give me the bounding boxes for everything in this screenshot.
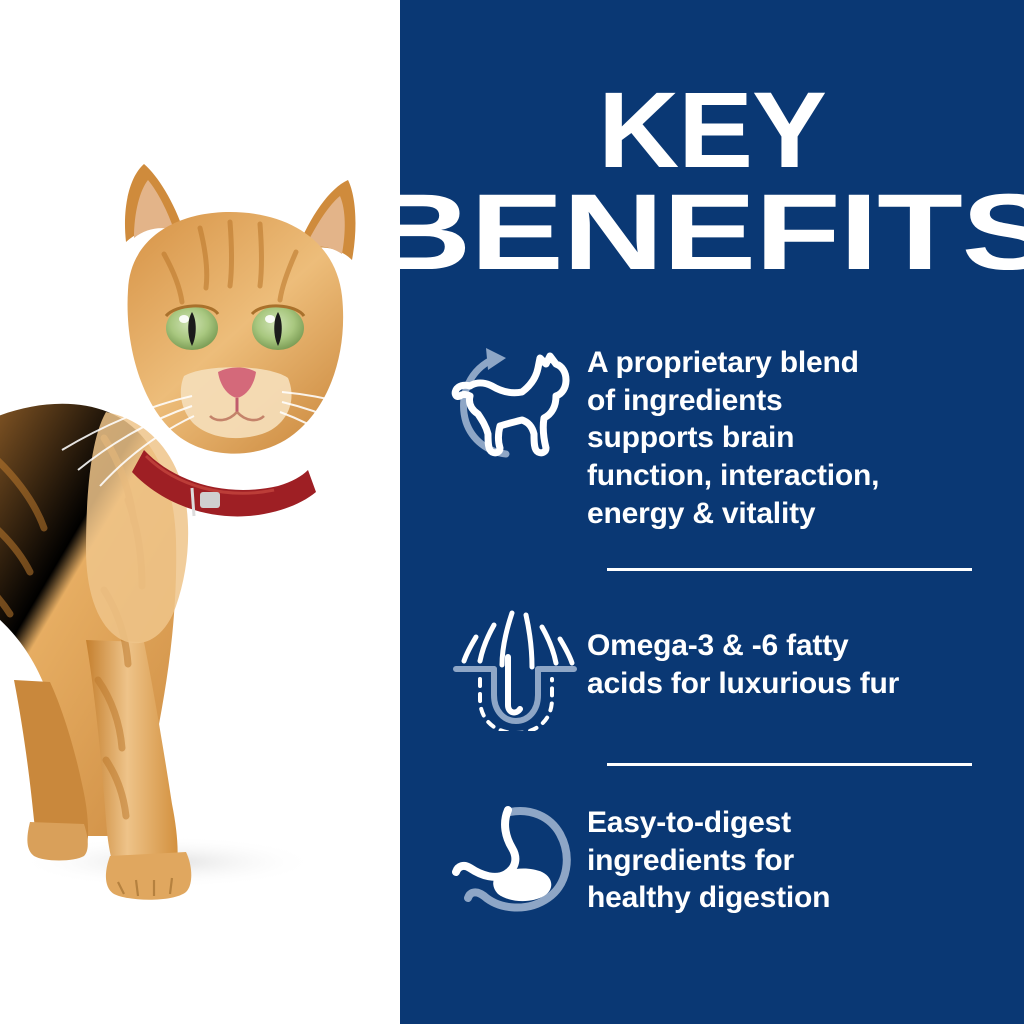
benefits-panel: KEY BENEFITS A proprietary blend of ingr… — [400, 0, 1024, 1024]
benefits-list: A proprietary blend of ingredients suppo… — [400, 338, 1024, 924]
benefit-text-digestion: Easy-to-digest ingredients for healthy d… — [578, 794, 1024, 917]
page-title-line-1: KEY — [388, 80, 1024, 180]
benefit-item-digestion: Easy-to-digest ingredients for healthy d… — [400, 794, 1024, 924]
page-title: KEY BENEFITS — [400, 80, 1024, 283]
hair-follicle-icon — [450, 603, 578, 731]
spacer — [400, 766, 1024, 794]
benefit-text-brain: A proprietary blend of ingredients suppo… — [578, 338, 1024, 532]
spacer — [400, 571, 1024, 601]
spacer — [400, 731, 1024, 763]
benefit-text-coat: Omega-3 & -6 fatty acids for luxurious f… — [578, 601, 1024, 702]
cat-photo-panel — [0, 0, 400, 1024]
stomach-icon — [450, 796, 578, 924]
page-title-line-2: BENEFITS — [306, 182, 1024, 282]
cat-refresh-icon — [450, 338, 578, 466]
key-benefits-panel: KEY BENEFITS A proprietary blend of ingr… — [0, 0, 1024, 1024]
spacer — [400, 532, 1024, 568]
benefit-item-coat: Omega-3 & -6 fatty acids for luxurious f… — [400, 601, 1024, 731]
benefit-item-brain: A proprietary blend of ingredients suppo… — [400, 338, 1024, 532]
